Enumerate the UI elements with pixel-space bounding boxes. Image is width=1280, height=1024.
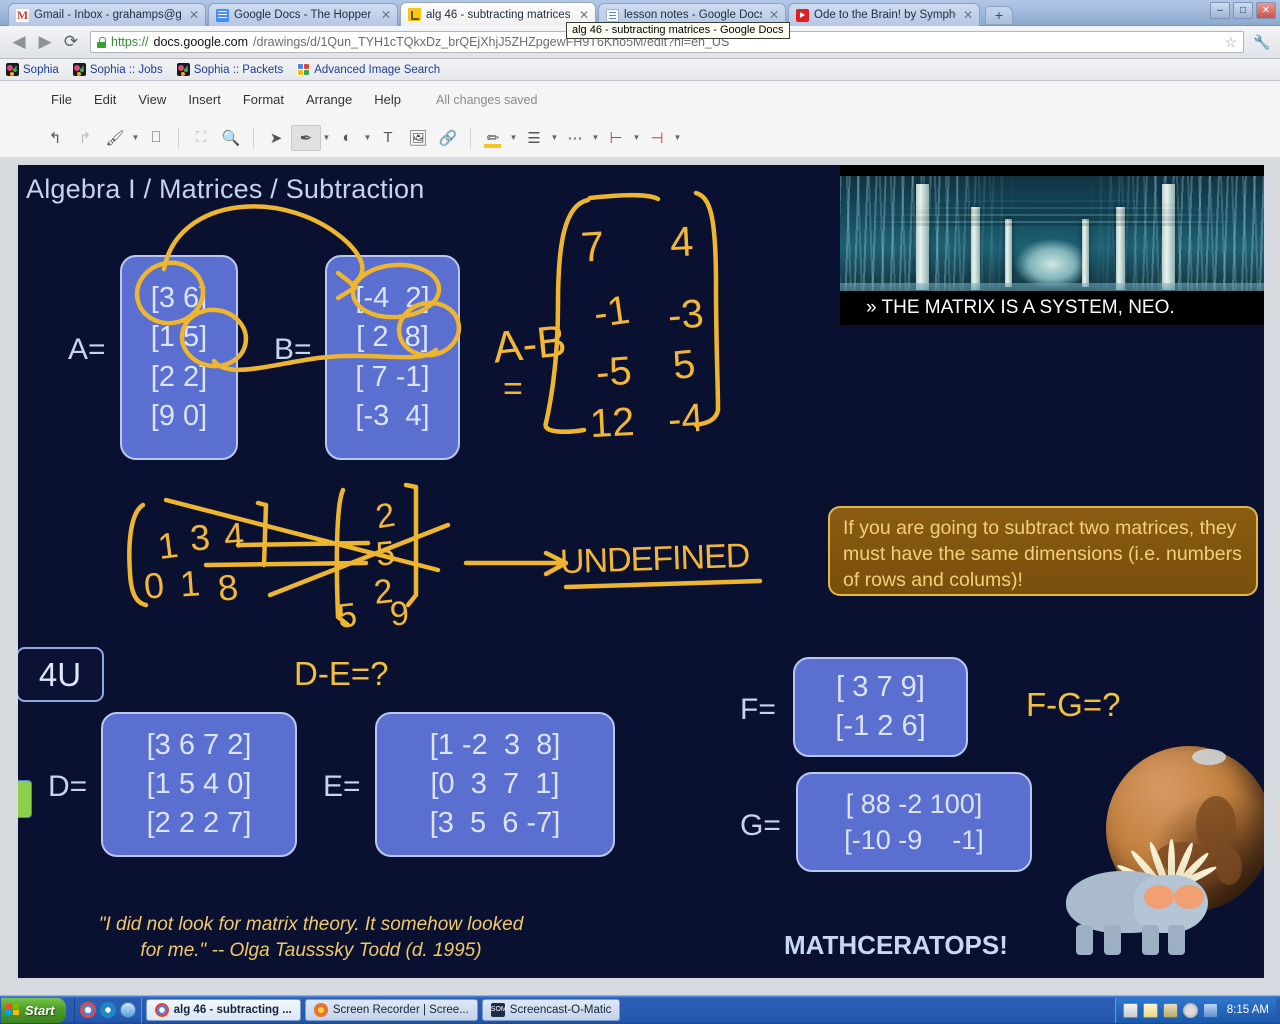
- tab-tooltip: alg 46 - subtracting matrices - Google D…: [566, 22, 790, 39]
- handwritten-equals: =: [503, 370, 523, 409]
- scribble2-r1: 5: [374, 534, 396, 575]
- browser-tab-gmail[interactable]: M Gmail - Inbox - grahamps@gm ✕: [8, 3, 206, 26]
- matrix-e-box[interactable]: [1 -2 3 8] [0 3 7 1] [3 5 6 -7]: [375, 712, 615, 857]
- quote-text: "I did not look for matrix theory. It so…: [51, 912, 571, 963]
- start-label: Start: [25, 1003, 55, 1018]
- matrix-g-box[interactable]: [ 88 -2 100] [-10 -9 -1]: [796, 772, 1032, 872]
- dino-eye: [1174, 885, 1204, 909]
- start-button[interactable]: Start: [1, 998, 66, 1023]
- handwritten-result-r2c0: -5: [594, 349, 633, 396]
- close-icon[interactable]: ✕: [577, 8, 591, 22]
- handwritten-result-r3c0: 12: [589, 400, 636, 447]
- bookmark-label: Advanced Image Search: [314, 64, 440, 76]
- matrix-b-box[interactable]: [-4 2] [ 2 8] [ 7 -1] [-3 4]: [325, 255, 460, 460]
- handwritten-result-r0c1: 4: [669, 217, 695, 266]
- matrix-row: [-4 2]: [355, 279, 429, 318]
- quick-launch-bar: [74, 998, 142, 1023]
- matrix-row: [3 5 6 -7]: [430, 804, 561, 843]
- handwritten-result-r0c0: 7: [579, 222, 606, 272]
- matrix-row: [1 5]: [151, 318, 207, 357]
- line-color-icon[interactable]: ✏: [478, 125, 508, 151]
- dino-leg: [1104, 925, 1121, 955]
- matrix-corridor-photo[interactable]: » THE MATRIX IS A SYSTEM, NEO.: [840, 165, 1264, 325]
- browser-tab-ode-to-the-brain[interactable]: Ode to the Brain! by Symphon ✕: [788, 3, 980, 26]
- save-status-label: All changes saved: [436, 93, 537, 107]
- paste-format-icon[interactable]: ⎕: [141, 125, 171, 151]
- mars-polar-cap: [1192, 749, 1226, 765]
- matrix-row: [0 3 7 1]: [431, 765, 560, 804]
- sophia-icon: [6, 63, 19, 76]
- scribble2-r4: 9: [388, 594, 410, 635]
- security-icon[interactable]: [1163, 1003, 1178, 1018]
- undefined-label: UNDEFINED: [559, 537, 750, 583]
- mathceratops-dinosaur-graphic: [1060, 823, 1230, 955]
- taskbar-clock[interactable]: 8:15 AM: [1223, 1004, 1269, 1016]
- firefox-icon: [314, 1003, 328, 1017]
- line-end-icon[interactable]: ⊣: [642, 125, 672, 151]
- forward-icon[interactable]: ▶: [32, 29, 58, 55]
- mathceratops-label: MATHCERATOPS!: [784, 930, 1008, 961]
- app-icon[interactable]: [120, 1002, 136, 1018]
- matrix-row: [ 2 8]: [356, 318, 429, 357]
- green-side-marker: [18, 780, 32, 818]
- windows-logo-icon: [6, 1004, 20, 1017]
- menu-insert[interactable]: Insert: [177, 88, 232, 111]
- sophia-icon: [73, 63, 86, 76]
- zoom-icon[interactable]: 🔍: [216, 125, 246, 151]
- internet-explorer-icon[interactable]: [100, 1002, 116, 1018]
- chevron-down-icon[interactable]: ▼: [672, 133, 683, 142]
- chrome-icon[interactable]: [80, 1002, 96, 1018]
- bookmarks-bar: Sophia Sophia :: Jobs Sophia :: Packets …: [0, 59, 1280, 81]
- docs-menu-bar: File Edit View Insert Format Arrange Hel…: [0, 81, 1280, 118]
- menu-arrange[interactable]: Arrange: [295, 88, 363, 111]
- scribble-r0c2: 4: [223, 514, 246, 557]
- bookmark-label: Sophia: [23, 64, 59, 76]
- taskbar-button-alg46[interactable]: alg 46 - subtracting ...: [146, 999, 301, 1021]
- drawing-canvas[interactable]: Algebra I / Matrices / Subtraction A= [3…: [18, 165, 1264, 978]
- lock-icon: [97, 37, 106, 48]
- dino-leg: [1142, 925, 1159, 955]
- window-controls: – □ ✕: [1210, 2, 1276, 19]
- photo-caption: » THE MATRIX IS A SYSTEM, NEO.: [840, 291, 1264, 325]
- undo-icon[interactable]: ↰: [40, 125, 70, 151]
- tab-title: Ode to the Brain! by Symphon: [814, 9, 956, 21]
- matrix-row: [-3 4]: [355, 397, 429, 436]
- close-icon[interactable]: ✕: [379, 8, 393, 22]
- gmail-icon: M: [16, 9, 29, 22]
- close-window-button[interactable]: ✕: [1256, 2, 1276, 19]
- chevron-down-icon[interactable]: ▼: [590, 133, 601, 142]
- docs-toolbar: ↰ ↱ 🖌 ▼ ⎕ ⛶ 🔍 ➤ ✒ ▼ ◐ ▼ T 🖼 🔗 ✏ ▼ ☰ ▼ ⋯ …: [0, 118, 1280, 158]
- scribble2-r0: 2: [373, 496, 398, 537]
- toolbar-divider: [470, 127, 471, 149]
- bookmark-star-icon[interactable]: ☆: [1218, 34, 1237, 51]
- fit-to-screen-icon[interactable]: ⛶: [186, 125, 216, 151]
- chrome-browser-window: M Gmail - Inbox - grahamps@gm ✕ Google D…: [0, 0, 1280, 995]
- insert-link-icon[interactable]: 🔗: [433, 125, 463, 151]
- matrix-row: [ 7 -1]: [355, 358, 429, 397]
- network-icon[interactable]: [1203, 1003, 1218, 1018]
- select-arrow-icon[interactable]: ➤: [261, 125, 291, 151]
- note-callout[interactable]: If you are going to subtract two matrice…: [828, 506, 1258, 596]
- google-docs-icon: [216, 9, 229, 22]
- matrix-g-label: G=: [740, 809, 781, 843]
- scribble-r0c0: 1: [156, 524, 181, 568]
- matrix-row: [1 -2 3 8]: [430, 726, 561, 765]
- wrench-menu-icon[interactable]: 🔧: [1250, 34, 1274, 51]
- close-icon[interactable]: ✕: [187, 8, 201, 22]
- handwritten-result-r1c0: -1: [591, 288, 632, 338]
- menu-help[interactable]: Help: [363, 88, 412, 111]
- tab-title: lesson notes - Google Docs: [624, 9, 762, 21]
- tab-title: Gmail - Inbox - grahamps@gm: [34, 9, 182, 21]
- line-color-swatch: [484, 144, 501, 148]
- quote-line-1: "I did not look for matrix theory. It so…: [51, 912, 571, 938]
- matrix-d-box[interactable]: [3 6 7 2] [1 5 4 0] [2 2 2 7]: [101, 712, 297, 857]
- system-tray: 8:15 AM: [1115, 998, 1276, 1023]
- status-badge-4u: 4U: [18, 647, 104, 702]
- google-docs-notes-icon: [606, 9, 619, 22]
- dino-leg: [1168, 925, 1185, 955]
- windows-taskbar: Start alg 46 - subtracting ... Screen Re…: [0, 995, 1280, 1024]
- handwritten-ab-label: A-B: [491, 316, 569, 373]
- chevron-down-icon[interactable]: ▼: [549, 133, 560, 142]
- matrix-e-label: E=: [323, 770, 361, 804]
- bookmark-advanced-image-search[interactable]: Advanced Image Search: [297, 63, 440, 76]
- tab-title: alg 46 - subtracting matrices -: [426, 9, 572, 21]
- sophia-icon: [177, 63, 190, 76]
- matrix-d-label: D=: [48, 770, 87, 804]
- chevron-down-icon[interactable]: ▼: [321, 133, 332, 142]
- page-title: Algebra I / Matrices / Subtraction: [26, 174, 424, 205]
- line-start-icon[interactable]: ⊢: [601, 125, 631, 151]
- chevron-down-icon[interactable]: ▼: [362, 133, 373, 142]
- bookmark-label: Sophia :: Packets: [194, 64, 284, 76]
- shape-icon[interactable]: ◐: [332, 125, 362, 151]
- matrix-row: [-1 2 6]: [835, 707, 925, 746]
- menu-view[interactable]: View: [127, 88, 177, 111]
- quote-line-2: for me." -- Olga Tausssky Todd (d. 1995): [51, 938, 571, 964]
- matrix-row: [3 6 7 2]: [147, 726, 252, 765]
- taskbar-button-label: Screencast-O-Matic: [510, 1004, 612, 1016]
- browser-tab-google-docs[interactable]: Google Docs - The Hopper ✕: [208, 3, 398, 26]
- bookmark-label: Sophia :: Jobs: [90, 64, 163, 76]
- scribble-pen-icon[interactable]: ✒: [291, 125, 321, 151]
- scribble-r1c0: 0: [142, 564, 166, 608]
- back-icon[interactable]: ◀: [6, 29, 32, 55]
- url-host: docs.google.com: [154, 35, 249, 49]
- taskbar-button-screencast-o-matic[interactable]: SOM Screencast-O-Matic: [482, 999, 621, 1021]
- photo-top-letterbox: [840, 165, 1264, 176]
- url-scheme: https://: [111, 35, 149, 49]
- matrix-a-box[interactable]: [3 6] [1 5] [2 2] [9 0]: [120, 255, 238, 460]
- menu-edit[interactable]: Edit: [83, 88, 127, 111]
- som-icon: SOM: [491, 1003, 505, 1017]
- bookmark-sophia[interactable]: Sophia: [6, 63, 59, 76]
- matrix-a-label: A=: [68, 333, 106, 367]
- toolbar-divider: [178, 127, 179, 149]
- matrix-row: [9 0]: [151, 397, 207, 436]
- bookmark-sophia-jobs[interactable]: Sophia :: Jobs: [73, 63, 163, 76]
- matrix-row: [2 2 2 7]: [147, 804, 252, 843]
- dino-leg: [1076, 925, 1093, 955]
- taskbar-button-label: Screen Recorder | Scree...: [333, 1004, 469, 1016]
- display-icon[interactable]: [1143, 1003, 1158, 1018]
- google-icon: [297, 63, 310, 76]
- scribble2-r3: 5: [336, 596, 359, 637]
- chrome-icon: [155, 1003, 169, 1017]
- scribble-r1c2: 8: [216, 566, 240, 610]
- close-icon[interactable]: ✕: [961, 8, 975, 22]
- scribble-r0c1: 3: [189, 516, 212, 559]
- java-icon[interactable]: [1123, 1003, 1138, 1018]
- minimize-button[interactable]: –: [1210, 2, 1230, 19]
- handwritten-result-r3c1: -4: [666, 396, 705, 443]
- volume-icon[interactable]: [1183, 1003, 1198, 1018]
- dino-eye: [1144, 885, 1174, 909]
- scribble-r1c1: 1: [179, 562, 202, 605]
- matrix-row: [2 2]: [151, 358, 207, 397]
- redo-icon[interactable]: ↱: [70, 125, 100, 151]
- chevron-down-icon[interactable]: ▼: [508, 133, 519, 142]
- taskbar-button-screen-recorder[interactable]: Screen Recorder | Scree...: [305, 999, 478, 1021]
- prompt-d-minus-e: D-E=?: [294, 655, 388, 693]
- close-icon[interactable]: ✕: [767, 8, 781, 22]
- menu-format[interactable]: Format: [232, 88, 295, 111]
- reload-icon[interactable]: ⟳: [58, 29, 84, 55]
- toolbar-divider: [253, 127, 254, 149]
- new-tab-button[interactable]: +: [985, 6, 1013, 25]
- tab-title: Google Docs - The Hopper: [234, 9, 374, 21]
- bookmark-sophia-packets[interactable]: Sophia :: Packets: [177, 63, 284, 76]
- matrix-f-label: F=: [740, 693, 776, 727]
- maximize-button[interactable]: □: [1233, 2, 1253, 19]
- handwritten-result-r1c1: -3: [666, 292, 705, 340]
- matrix-row: [3 6]: [151, 279, 207, 318]
- matrix-row: [1 5 4 0]: [147, 765, 252, 804]
- handwritten-result-r2c1: 5: [671, 342, 698, 389]
- prompt-f-minus-g: F-G=?: [1026, 686, 1120, 724]
- youtube-icon: [796, 9, 809, 22]
- matrix-row: [-10 -9 -1]: [844, 822, 984, 858]
- menu-file[interactable]: File: [40, 88, 83, 111]
- matrix-b-label: B=: [274, 333, 312, 367]
- line-weight-icon[interactable]: ☰: [519, 125, 549, 151]
- chevron-down-icon[interactable]: ▼: [130, 133, 141, 142]
- google-drawing-icon: [408, 8, 421, 21]
- insert-image-icon[interactable]: 🖼: [403, 125, 433, 151]
- taskbar-button-label: alg 46 - subtracting ...: [174, 1004, 292, 1016]
- matrix-row: [ 3 7 9]: [836, 668, 925, 707]
- chevron-down-icon[interactable]: ▼: [631, 133, 642, 142]
- text-box-icon[interactable]: T: [373, 125, 403, 151]
- line-dash-icon[interactable]: ⋯: [560, 125, 590, 151]
- paint-format-icon[interactable]: 🖌: [100, 125, 130, 151]
- matrix-f-box[interactable]: [ 3 7 9] [-1 2 6]: [793, 657, 968, 757]
- matrix-row: [ 88 -2 100]: [846, 786, 983, 822]
